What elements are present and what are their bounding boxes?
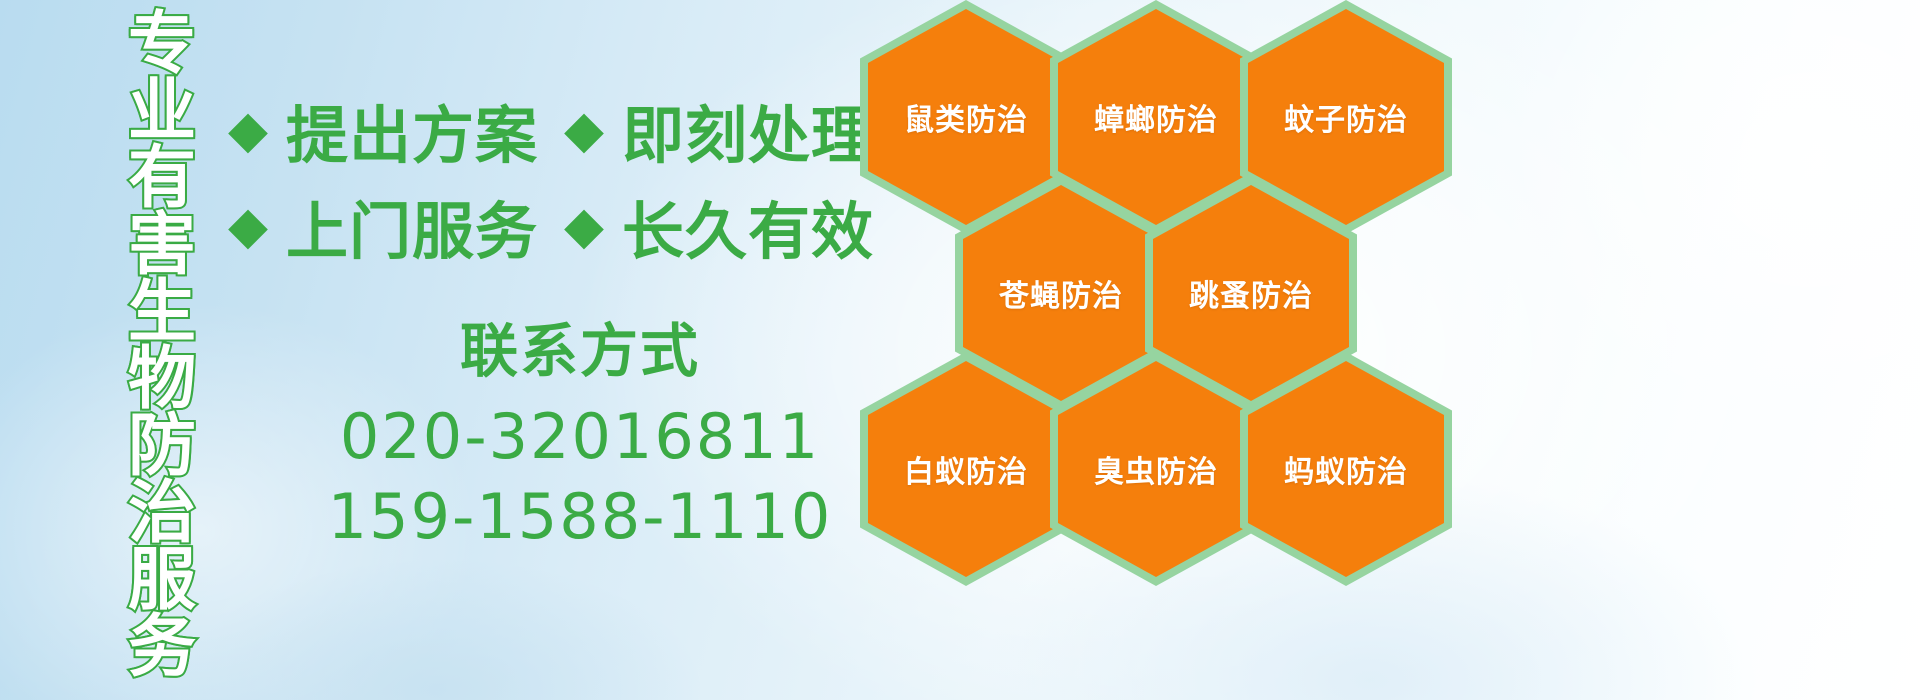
vertical-headline: 专 业 有 害 生 物 防 治 服 务 — [108, 12, 216, 672]
feature-item-label: 上门服务 — [286, 181, 538, 271]
feature-list: ◆ 提出方案 ◆ 即刻处理 ◆ 上门服务 ◆ 长久有效 — [228, 82, 868, 274]
service-hex-label: 鼠类防治 — [904, 95, 1028, 139]
feature-item-label: 即刻处理 — [622, 85, 874, 175]
service-hex-inner: 白蚁防治 — [868, 361, 1064, 577]
vertical-headline-char: 业 — [128, 79, 196, 146]
diamond-bullet-icon: ◆ — [228, 104, 268, 156]
feature-row: ◆ 提出方案 ◆ 即刻处理 — [228, 82, 868, 178]
service-hex-label: 苍蝇防治 — [999, 271, 1123, 315]
service-hex-label: 白蚁防治 — [904, 447, 1028, 491]
pest-control-banner: 专 业 有 害 生 物 防 治 服 务 ◆ 提出方案 ◆ 即刻处理 ◆ 上门服务… — [0, 0, 1920, 700]
contact-block: 联系方式 020-32016811 159-1588-1110 — [300, 318, 860, 558]
background-glow-bottom-left — [180, 560, 700, 700]
service-hex-label: 跳蚤防治 — [1189, 271, 1313, 315]
feature-row: ◆ 上门服务 ◆ 长久有效 — [228, 178, 868, 274]
vertical-headline-char: 防 — [128, 414, 196, 481]
feature-item-label: 提出方案 — [286, 85, 538, 175]
service-hex-label: 蚂蚁防治 — [1284, 447, 1408, 491]
vertical-headline-char: 害 — [128, 213, 196, 280]
service-hex-label: 臭虫防治 — [1094, 447, 1218, 491]
diamond-bullet-icon: ◆ — [564, 200, 604, 252]
diamond-bullet-icon: ◆ — [228, 200, 268, 252]
contact-phone-mobile[interactable]: 159-1588-1110 — [300, 477, 860, 558]
vertical-headline-char: 有 — [128, 146, 196, 213]
vertical-headline-char: 务 — [128, 615, 196, 682]
service-hex-inner: 蚂蚁防治 — [1248, 361, 1444, 577]
diamond-bullet-icon: ◆ — [564, 104, 604, 156]
vertical-headline-char: 生 — [128, 280, 196, 347]
service-hex-label: 蚊子防治 — [1284, 95, 1408, 139]
vertical-headline-char: 专 — [128, 12, 196, 79]
contact-phone-landline[interactable]: 020-32016811 — [300, 397, 860, 478]
vertical-headline-char: 治 — [128, 481, 196, 548]
service-hex-inner: 臭虫防治 — [1058, 361, 1254, 577]
contact-title: 联系方式 — [300, 318, 860, 385]
service-hex-label: 蟑螂防治 — [1094, 95, 1218, 139]
vertical-headline-char: 服 — [128, 548, 196, 615]
background-glow-right — [1500, 0, 1920, 440]
feature-item-label: 长久有效 — [622, 181, 874, 271]
vertical-headline-char: 物 — [128, 347, 196, 414]
service-honeycomb: 鼠类防治 蟑螂防治 蚊子防治 苍蝇防治 跳蚤防治 白蚁防 — [860, 0, 1480, 586]
